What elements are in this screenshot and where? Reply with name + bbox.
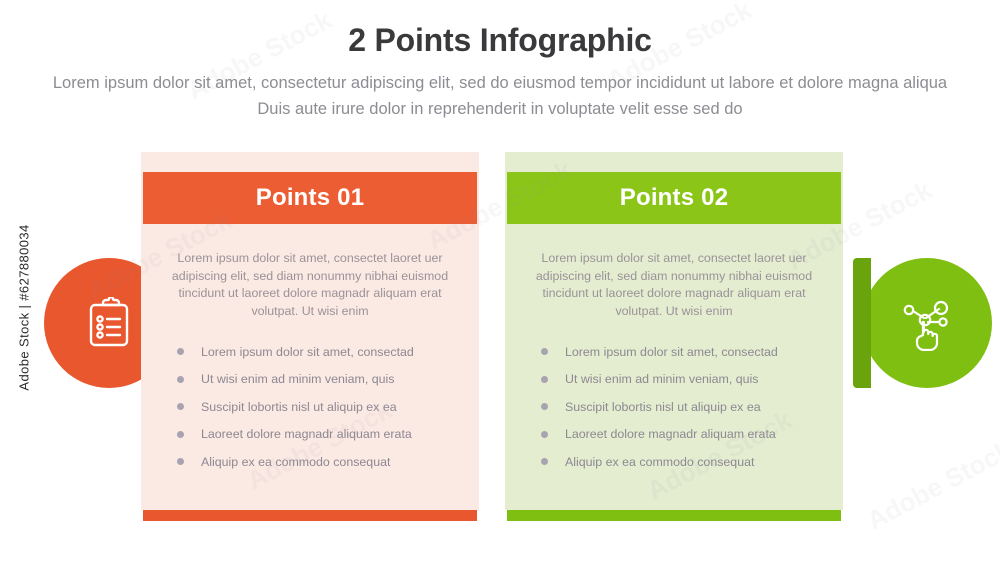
list-item-label: Lorem ipsum dolor sit amet, consectad: [565, 345, 778, 359]
card-paragraph: Lorem ipsum dolor sit amet, consectet la…: [535, 250, 813, 320]
adobe-stock-watermark-label: Adobe Stock | #627880034: [17, 188, 32, 428]
card-points-01[interactable]: Points 01 Lorem ipsum dolor sit amet, co…: [141, 152, 479, 510]
infographic-canvas: Adobe Stock Adobe Stock Adobe Stock Adob…: [0, 0, 1000, 563]
card-body: Points 01 Lorem ipsum dolor sit amet, co…: [141, 152, 479, 510]
card-bullet-list: Lorem ipsum dolor sit amet, consectad Ut…: [177, 338, 467, 476]
card-title: Points 02: [620, 184, 729, 212]
right-accent-circle: [862, 258, 992, 388]
card-footer-accent-bar: [507, 510, 841, 521]
bullet-dot-icon: [541, 431, 548, 438]
card-bullet-list: Lorem ipsum dolor sit amet, consectad Ut…: [541, 338, 831, 476]
bullet-dot-icon: [541, 458, 548, 465]
left-accent-circle: [44, 258, 174, 388]
bullet-dot-icon: [177, 403, 184, 410]
list-item: Lorem ipsum dolor sit amet, consectad: [177, 338, 467, 366]
list-item: Ut wisi enim ad minim veniam, quis: [177, 366, 467, 394]
card-title-band: Points 01: [143, 172, 477, 224]
list-item: Suscipit lobortis nisl ut aliquip ex ea: [177, 393, 467, 421]
bullet-dot-icon: [541, 403, 548, 410]
list-item: Suscipit lobortis nisl ut aliquip ex ea: [541, 393, 831, 421]
hand-touch-network-icon: [862, 258, 992, 388]
bullet-dot-icon: [541, 348, 548, 355]
clipboard-checklist-icon: [44, 258, 174, 388]
list-item: Aliquip ex ea commodo consequat: [177, 448, 467, 476]
page-subtitle: Lorem ipsum dolor sit amet, consectetur …: [50, 70, 950, 122]
watermark-tile: Adobe Stock: [862, 435, 1000, 537]
page-title: 2 Points Infographic: [0, 22, 1000, 59]
bullet-dot-icon: [541, 376, 548, 383]
list-item-label: Suscipit lobortis nisl ut aliquip ex ea: [201, 400, 397, 414]
card-body: Points 02 Lorem ipsum dolor sit amet, co…: [505, 152, 843, 510]
list-item-label: Lorem ipsum dolor sit amet, consectad: [201, 345, 414, 359]
bullet-dot-icon: [177, 348, 184, 355]
list-item: Laoreet dolore magnadr aliquam erata: [541, 421, 831, 449]
list-item-label: Aliquip ex ea commodo consequat: [565, 455, 754, 469]
card-paragraph: Lorem ipsum dolor sit amet, consectet la…: [171, 250, 449, 320]
list-item-label: Laoreet dolore magnadr aliquam erata: [201, 427, 412, 441]
card-points-02[interactable]: Points 02 Lorem ipsum dolor sit amet, co…: [505, 152, 843, 510]
list-item: Ut wisi enim ad minim veniam, quis: [541, 366, 831, 394]
list-item: Aliquip ex ea commodo consequat: [541, 448, 831, 476]
bullet-dot-icon: [177, 458, 184, 465]
bullet-dot-icon: [177, 431, 184, 438]
card-title: Points 01: [256, 184, 365, 212]
list-item: Lorem ipsum dolor sit amet, consectad: [541, 338, 831, 366]
card-footer-accent-bar: [143, 510, 477, 521]
list-item-label: Suscipit lobortis nisl ut aliquip ex ea: [565, 400, 761, 414]
list-item-label: Ut wisi enim ad minim veniam, quis: [565, 372, 759, 386]
bullet-dot-icon: [177, 376, 184, 383]
list-item-label: Aliquip ex ea commodo consequat: [201, 455, 390, 469]
list-item: Laoreet dolore magnadr aliquam erata: [177, 421, 467, 449]
list-item-label: Laoreet dolore magnadr aliquam erata: [565, 427, 776, 441]
list-item-label: Ut wisi enim ad minim veniam, quis: [201, 372, 395, 386]
card-title-band: Points 02: [507, 172, 841, 224]
